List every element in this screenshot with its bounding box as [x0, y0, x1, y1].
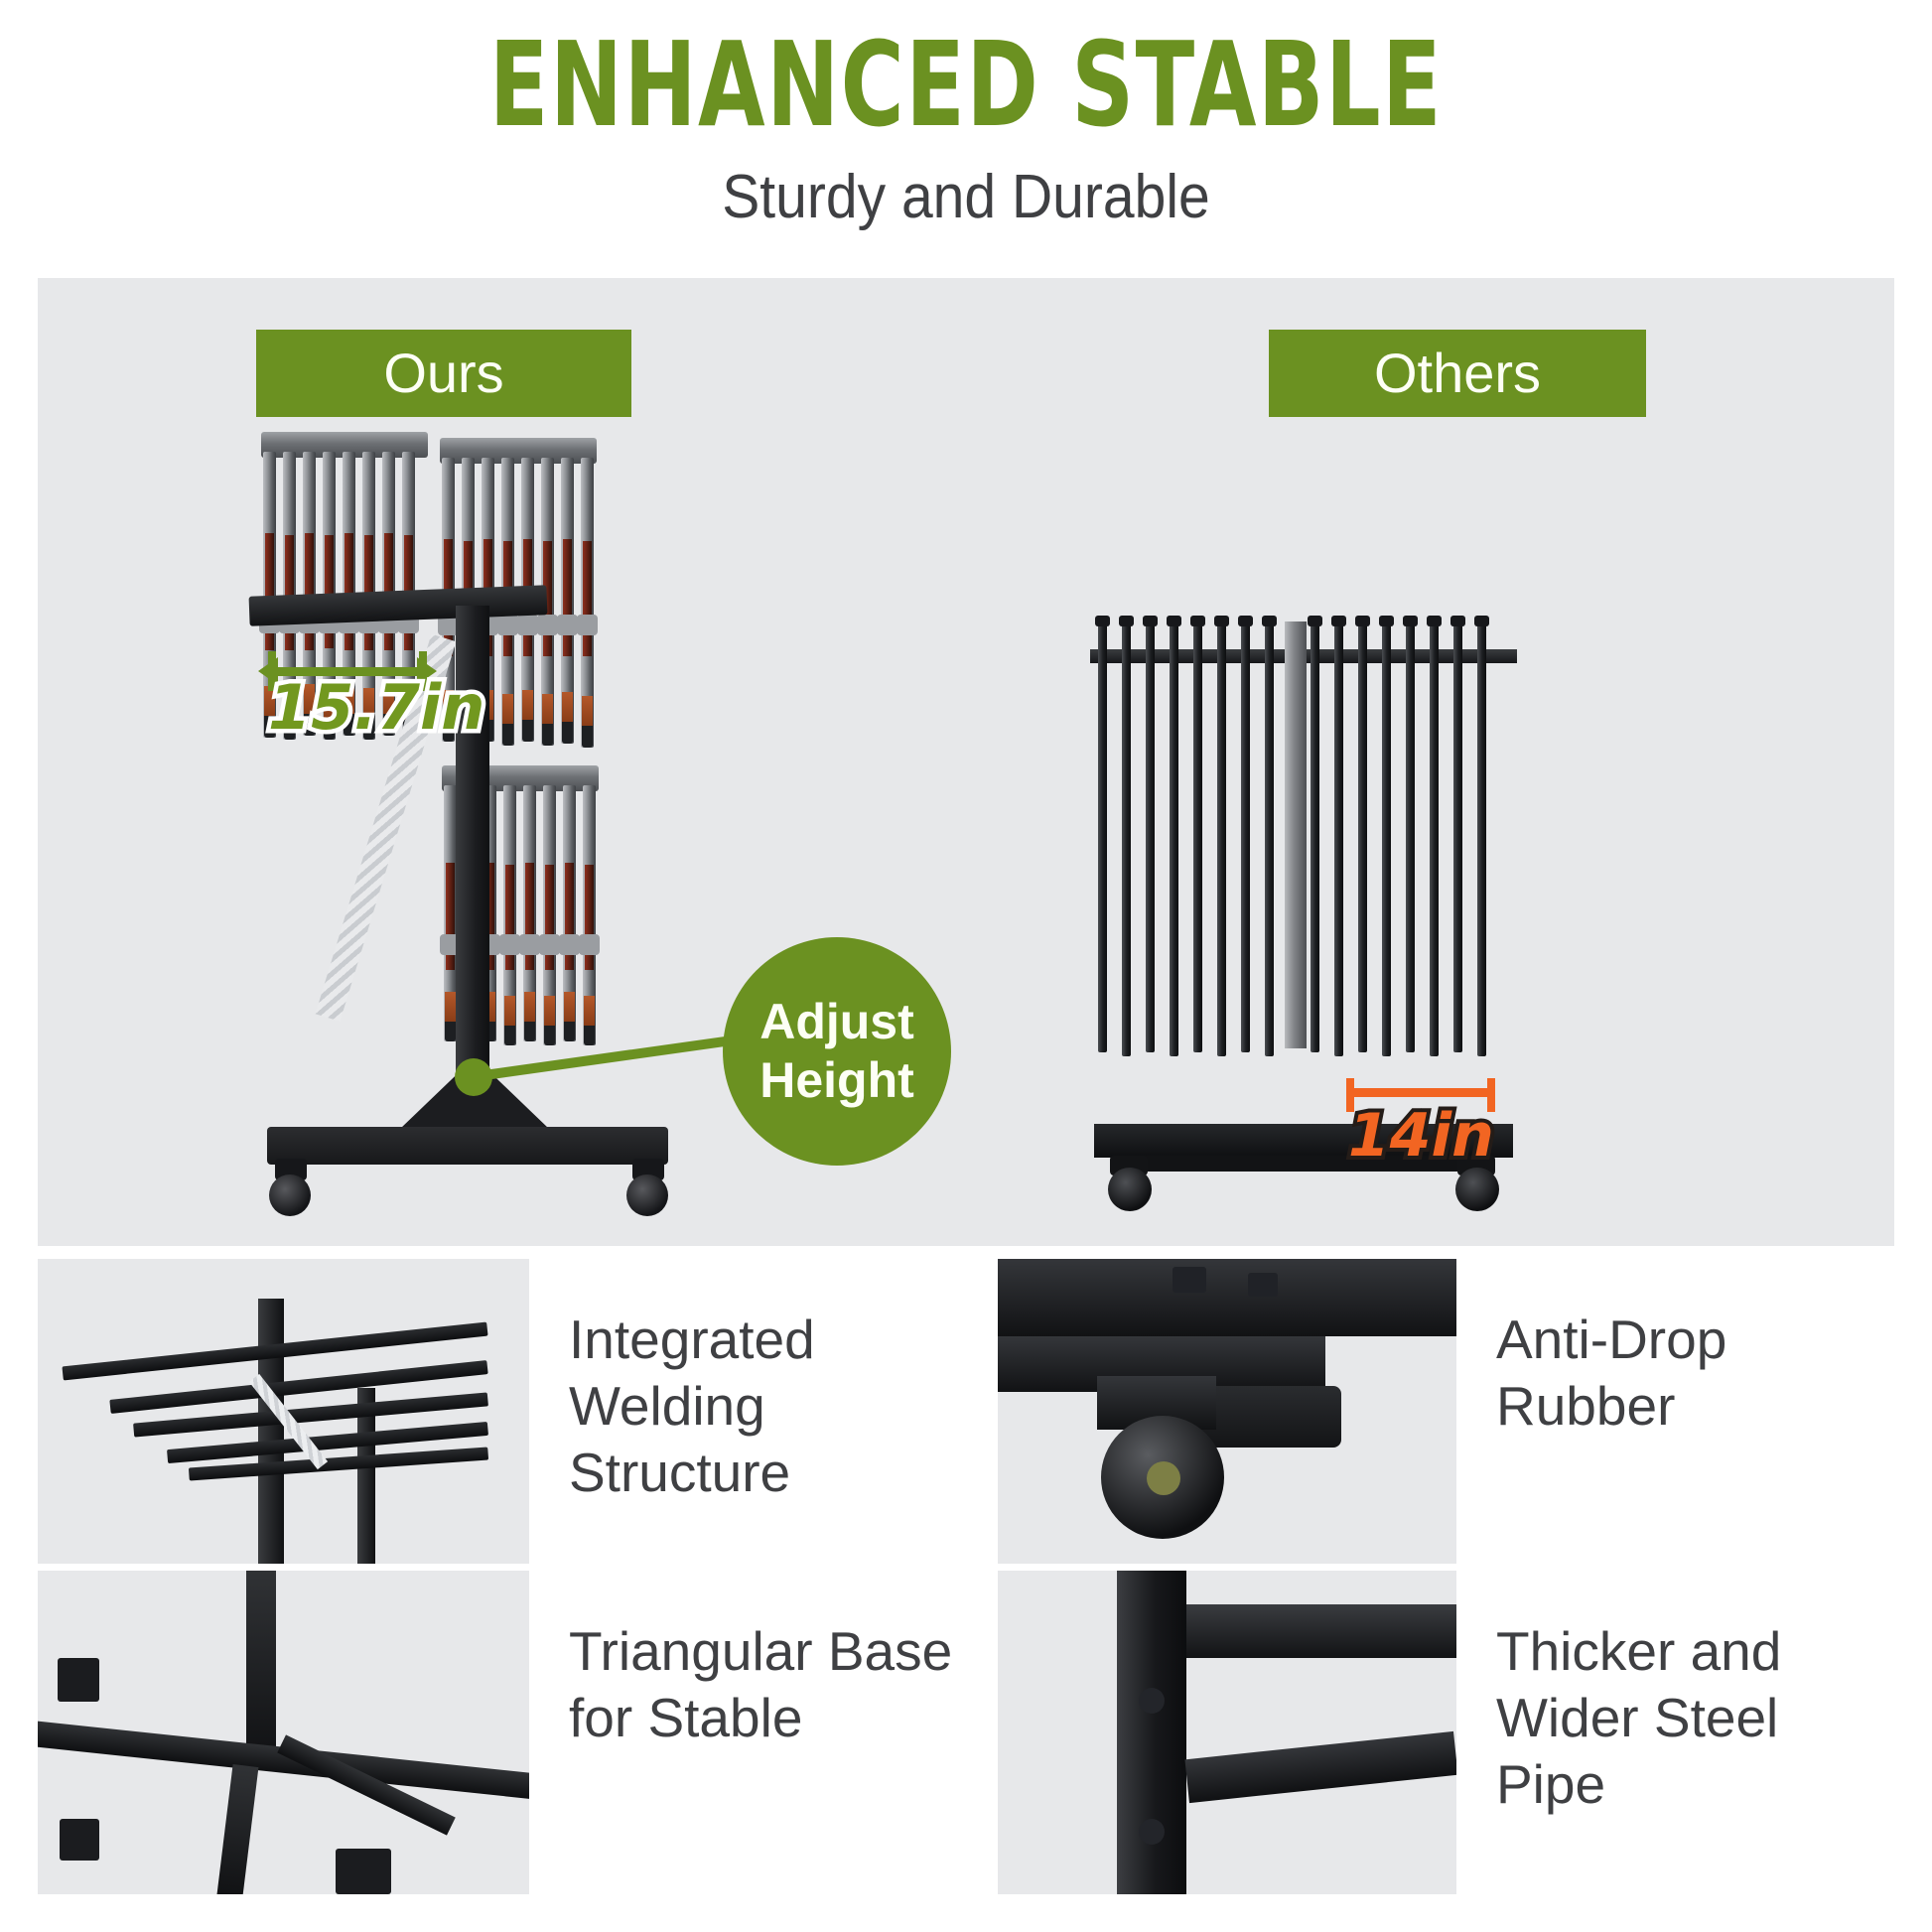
triangular-base-photo	[38, 1571, 529, 1894]
comparison-panel: Ours Others	[38, 278, 1894, 1246]
caption-line: Thicker and	[1496, 1618, 1781, 1685]
caption-line: Welding	[569, 1373, 815, 1440]
welded-arms-photo	[38, 1259, 529, 1564]
feature-caption-2: Anti-Drop Rubber	[1456, 1259, 1726, 1440]
page-header: ENHANCED STABLE Sturdy and Durable	[0, 0, 1932, 229]
caption-line: Rubber	[1496, 1373, 1726, 1440]
caption-line: for Stable	[569, 1685, 952, 1751]
mount-plate	[60, 1819, 99, 1861]
mount-plate	[58, 1658, 99, 1702]
cart-bottom-bar	[267, 1127, 668, 1165]
caption-line: Wider Steel	[1496, 1685, 1781, 1751]
bolt	[1139, 1819, 1165, 1845]
caption-line: Structure	[569, 1440, 815, 1506]
feature-steel-pipe: Thicker and Wider Steel Pipe	[998, 1571, 1894, 1894]
callout-anchor-dot	[455, 1058, 492, 1096]
page-title: ENHANCED STABLE	[251, 26, 1681, 143]
measurement-label-others: 14in	[1348, 1106, 1494, 1166]
vertical-steel-pipe	[1117, 1571, 1186, 1894]
bolt	[1173, 1267, 1206, 1293]
caster-wheel	[269, 1174, 311, 1216]
frame-beam	[998, 1259, 1456, 1336]
mount-plate	[336, 1849, 391, 1894]
page-subtitle: Sturdy and Durable	[77, 165, 1855, 229]
caption-line: Integrated	[569, 1307, 815, 1373]
caster-wheel	[1108, 1168, 1152, 1211]
caster-rubber-photo	[998, 1259, 1456, 1564]
caption-line: Triangular Base	[569, 1618, 952, 1685]
others-center-spine	[1285, 621, 1307, 1048]
base-column	[246, 1571, 276, 1769]
steel-pipe-photo	[998, 1571, 1456, 1894]
welding-post	[258, 1299, 284, 1564]
others-caster-left	[1104, 1156, 1156, 1211]
wheel-axle-bolt	[1147, 1461, 1180, 1495]
caster-wheel-left	[267, 1159, 315, 1216]
horizontal-steel-pipe	[1186, 1604, 1456, 1658]
diagonal-steel-pipe	[1184, 1731, 1456, 1803]
measurement-others: 14in	[1346, 1078, 1495, 1177]
feature-caption-1: Integrated Welding Structure	[529, 1259, 815, 1506]
callout-line-1: Adjust	[759, 993, 914, 1051]
feature-triangular-base: Triangular Base for Stable	[38, 1571, 998, 1894]
caster-wheel	[626, 1174, 668, 1216]
caption-line: Anti-Drop	[1496, 1307, 1726, 1373]
caster-wheel-right	[624, 1159, 672, 1216]
badge-others: Others	[1269, 330, 1646, 417]
measurement-label-ours: 15.7in	[268, 677, 484, 739]
feature-anti-drop-rubber: Anti-Drop Rubber	[998, 1259, 1894, 1564]
base-crossbar	[38, 1719, 529, 1802]
adjust-height-callout: Adjust Height	[723, 937, 951, 1166]
callout-line-2: Height	[759, 1051, 914, 1110]
measure-line-icon	[1352, 1088, 1491, 1097]
caption-line: Pipe	[1496, 1751, 1781, 1818]
bolt	[1248, 1273, 1278, 1297]
bolt	[1139, 1688, 1165, 1714]
ours-product-image	[261, 432, 678, 1216]
feature-caption-3: Triangular Base for Stable	[529, 1571, 952, 1751]
measurement-ours: 15.7in	[268, 651, 427, 741]
badge-ours: Ours	[256, 330, 631, 417]
feature-caption-4: Thicker and Wider Steel Pipe	[1456, 1571, 1781, 1818]
base-leg	[216, 1764, 259, 1894]
feature-integrated-welding: Integrated Welding Structure	[38, 1259, 998, 1564]
feature-grid: Integrated Welding Structure Anti-Drop R…	[38, 1259, 1894, 1894]
